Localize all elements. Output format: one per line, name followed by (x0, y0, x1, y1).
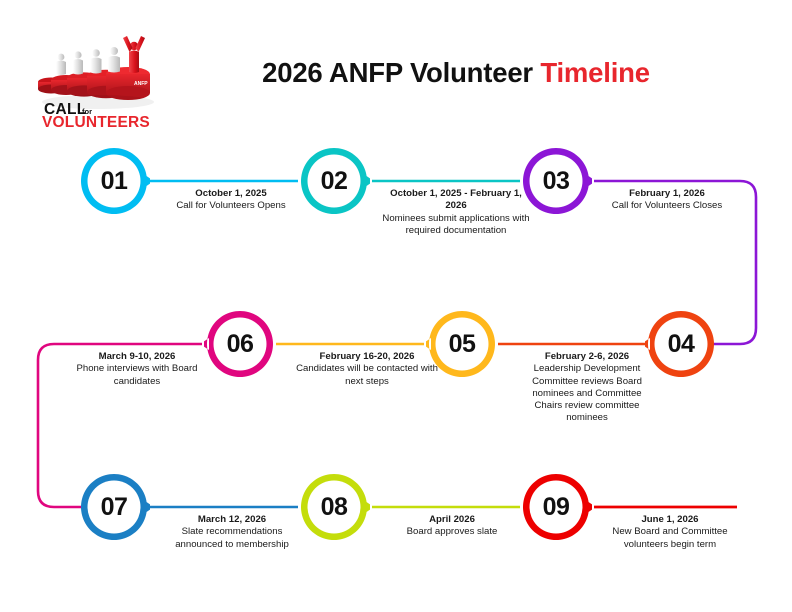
step-date-03: February 1, 2026 (596, 188, 738, 200)
step-desc-07: Slate recommendations announced to membe… (158, 526, 306, 551)
step-text-02: October 1, 2025 - February 1, 2026 Nomin… (382, 188, 530, 237)
node-number-07: 07 (78, 471, 150, 543)
step-text-03: February 1, 2026 Call for Volunteers Clo… (596, 188, 738, 213)
step-text-05: February 16-20, 2026 Candidates will be … (296, 351, 438, 388)
step-desc-01: Call for Volunteers Opens (160, 200, 302, 212)
node-number-01: 01 (78, 145, 150, 217)
step-desc-09: New Board and Committee volunteers begin… (596, 526, 744, 551)
step-date-01: October 1, 2025 (160, 188, 302, 200)
timeline-node-06[interactable]: 06 (204, 308, 276, 380)
timeline-node-07[interactable]: 07 (78, 471, 150, 543)
page-title: 2026 ANFP Volunteer Timeline (196, 57, 716, 89)
logo-text-volunteers: VOLUNTEERS (42, 114, 150, 128)
node-number-03: 03 (520, 145, 592, 217)
step-desc-05: Candidates will be contacted with next s… (296, 363, 438, 388)
node-number-08: 08 (298, 471, 370, 543)
call-for-volunteers-logo: ANFP (30, 28, 170, 128)
node-number-02: 02 (298, 145, 370, 217)
logo-artwork: ANFP (30, 28, 170, 128)
step-date-04: February 2-6, 2026 (518, 351, 656, 363)
step-date-09: June 1, 2026 (596, 514, 744, 526)
timeline-node-01[interactable]: 01 (78, 145, 150, 217)
timeline-node-02[interactable]: 02 (298, 145, 370, 217)
step-desc-03: Call for Volunteers Closes (596, 200, 738, 212)
timeline-node-03[interactable]: 03 (520, 145, 592, 217)
timeline-node-08[interactable]: 08 (298, 471, 370, 543)
step-desc-08: Board approves slate (378, 526, 526, 538)
node-number-06: 06 (204, 308, 276, 380)
step-desc-02: Nominees submit applications with requir… (382, 213, 530, 238)
node-number-09: 09 (520, 471, 592, 543)
logo-figures (56, 47, 120, 75)
step-date-05: February 16-20, 2026 (296, 351, 438, 363)
step-desc-06: Phone interviews with Board candidates (68, 363, 206, 388)
page-title-accent: Timeline (540, 57, 649, 88)
step-date-07: March 12, 2026 (158, 514, 306, 526)
step-text-08: April 2026 Board approves slate (378, 514, 526, 539)
step-text-06: March 9-10, 2026 Phone interviews with B… (68, 351, 206, 388)
step-date-08: April 2026 (378, 514, 526, 526)
timeline-node-09[interactable]: 09 (520, 471, 592, 543)
step-text-01: October 1, 2025 Call for Volunteers Open… (160, 188, 302, 213)
header: ANFP (0, 0, 792, 132)
step-text-09: June 1, 2026 New Board and Committee vol… (596, 514, 744, 551)
step-date-02: October 1, 2025 - February 1, 2026 (382, 188, 530, 213)
step-desc-04: Leadership Development Committee reviews… (518, 363, 656, 424)
logo-podium-mark: ANFP (134, 81, 148, 87)
page-title-main: 2026 ANFP Volunteer (262, 57, 540, 88)
step-text-04: February 2-6, 2026 Leadership Developmen… (518, 351, 656, 425)
step-text-07: March 12, 2026 Slate recommendations ann… (158, 514, 306, 551)
step-date-06: March 9-10, 2026 (68, 351, 206, 363)
